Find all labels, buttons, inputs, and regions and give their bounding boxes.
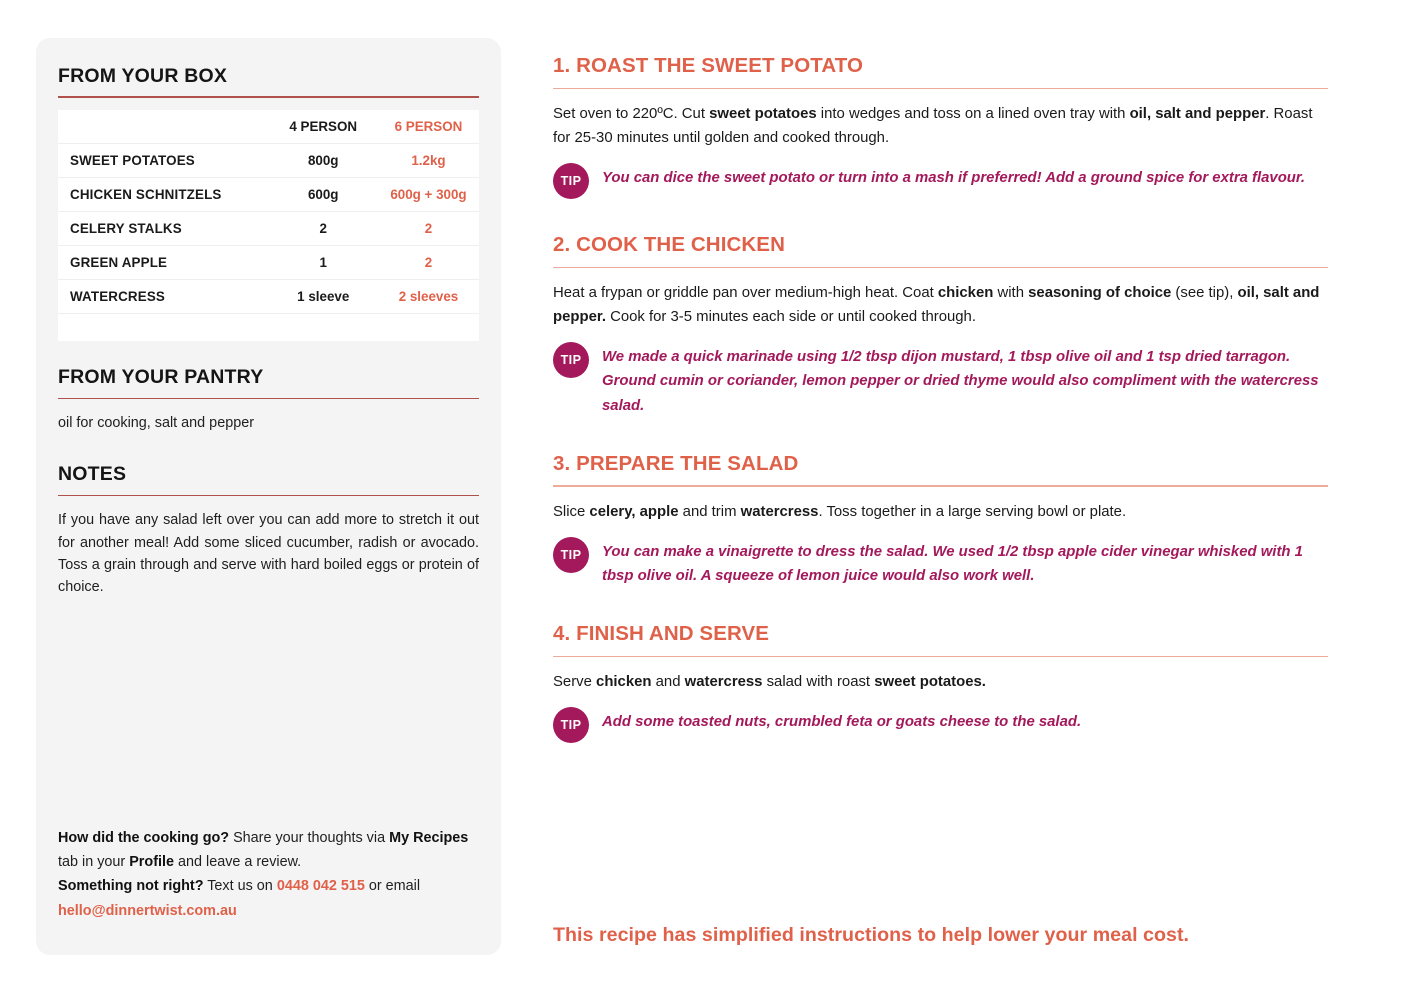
step-2-tip-text: We made a quick marinade using 1/2 tbsp … [602, 345, 1328, 417]
footer-issue-label: Something not right? [58, 878, 203, 894]
step-3-body: Slice celery, apple and trim watercress.… [553, 500, 1328, 524]
footer-prompt-label: How did the cooking go? [58, 830, 229, 846]
tip-badge-icon: TIP [553, 537, 589, 573]
text-fragment: Cook for 3-5 minutes each side or until … [606, 309, 976, 325]
ingredient-emphasis: watercress [741, 504, 819, 520]
notes-text: If you have any salad left over you can … [58, 509, 479, 598]
pantry-text: oil for cooking, salt and pepper [58, 412, 479, 434]
ingredient-name: CHICKEN SCHNITZELS [58, 177, 269, 211]
footer-text: Share your thoughts via [229, 830, 389, 846]
support-phone-number[interactable]: 0448 042 515 [277, 878, 365, 894]
step-4-body: Serve chicken and watercress salad with … [553, 670, 1328, 694]
ingredient-emphasis: sweet potatoes. [874, 674, 986, 690]
tip-badge-icon: TIP [553, 163, 589, 199]
from-your-box-divider [58, 96, 479, 97]
tip-badge-icon: TIP [553, 342, 589, 378]
ingredient-qty-6: 1.2kg [378, 143, 479, 177]
spacer-cell [269, 313, 378, 341]
instructions-column: 1. ROAST THE SWEET POTATO Set oven to 22… [553, 54, 1328, 743]
header-6-person: 6 PERSON [378, 110, 479, 144]
step-4-tip-text: Add some toasted nuts, crumbled feta or … [602, 710, 1081, 734]
step-3-tip: TIP You can make a vinaigrette to dress … [553, 540, 1328, 588]
footer-line2: Something not right? Text us on 0448 042… [58, 878, 420, 918]
footer-profile-label: Profile [129, 854, 174, 870]
step-3: 3. PREPARE THE SALAD Slice celery, apple… [553, 452, 1328, 588]
ingredient-emphasis: watercress [685, 674, 763, 690]
step-1-divider [553, 88, 1328, 89]
ingredient-qty-6: 2 [378, 245, 479, 279]
step-4-tip: TIP Add some toasted nuts, crumbled feta… [553, 710, 1328, 743]
spacer-cell [58, 313, 269, 341]
spacer-cell [378, 313, 479, 341]
step-3-title: 3. PREPARE THE SALAD [553, 452, 1328, 476]
ingredient-emphasis: celery, apple [589, 504, 678, 520]
step-2-tip: TIP We made a quick marinade using 1/2 t… [553, 345, 1328, 417]
ingredient-qty-6: 600g + 300g [378, 177, 479, 211]
text-fragment: and [652, 674, 685, 690]
header-ingredient [58, 110, 269, 144]
step-gap [553, 199, 1328, 233]
ingredient-qty-4: 2 [269, 211, 378, 245]
text-fragment: Heat a frypan or griddle pan over medium… [553, 285, 938, 301]
text-fragment: salad with roast [762, 674, 874, 690]
ingredient-qty-4: 1 sleeve [269, 279, 378, 313]
ingredient-emphasis: oil, salt and pepper [1130, 106, 1266, 122]
text-fragment: Set oven to 220ºC. Cut [553, 106, 709, 122]
ingredient-qty-4: 600g [269, 177, 378, 211]
notes-divider [58, 495, 479, 496]
table-row: CELERY STALKS 2 2 [58, 211, 479, 245]
step-2-title: 2. COOK THE CHICKEN [553, 233, 1328, 257]
step-1-title: 1. ROAST THE SWEET POTATO [553, 54, 1328, 78]
text-fragment: Serve [553, 674, 596, 690]
table-row: WATERCRESS 1 sleeve 2 sleeves [58, 279, 479, 313]
from-your-pantry-divider [58, 398, 479, 399]
ingredient-name: SWEET POTATOES [58, 143, 269, 177]
footer-my-recipes-label: My Recipes [389, 830, 468, 846]
support-email-address[interactable]: hello@dinnertwist.com.au [58, 903, 237, 919]
step-3-tip-text: You can make a vinaigrette to dress the … [602, 540, 1328, 588]
step-4: 4. FINISH AND SERVE Serve chicken and wa… [553, 622, 1328, 743]
footer-line1: How did the cooking go? Share your thoug… [58, 830, 468, 870]
feedback-footer: How did the cooking go? Share your thoug… [58, 826, 479, 923]
footer-text: Text us on [203, 878, 276, 894]
step-1-tip: TIP You can dice the sweet potato or tur… [553, 166, 1328, 199]
footer-text: or email [365, 878, 420, 894]
table-row: CHICKEN SCHNITZELS 600g 600g + 300g [58, 177, 479, 211]
table-row: SWEET POTATOES 800g 1.2kg [58, 143, 479, 177]
ingredient-emphasis: seasoning of choice [1028, 285, 1171, 301]
footer-text: tab in your [58, 854, 129, 870]
ingredient-qty-4: 800g [269, 143, 378, 177]
table-row: GREEN APPLE 1 2 [58, 245, 479, 279]
recipe-page: FROM YOUR BOX 4 PERSON 6 PERSON SWEET PO… [0, 0, 1403, 992]
ingredient-qty-4: 1 [269, 245, 378, 279]
step-1: 1. ROAST THE SWEET POTATO Set oven to 22… [553, 54, 1328, 199]
footer-text: and leave a review. [174, 854, 301, 870]
step-gap [553, 418, 1328, 452]
ingredient-name: GREEN APPLE [58, 245, 269, 279]
ingredient-qty-6: 2 sleeves [378, 279, 479, 313]
table-spacer-row [58, 313, 479, 341]
ingredients-panel: FROM YOUR BOX 4 PERSON 6 PERSON SWEET PO… [36, 38, 501, 955]
step-1-tip-text: You can dice the sweet potato or turn in… [602, 166, 1305, 190]
step-gap [553, 588, 1328, 622]
text-fragment: . Toss together in a large serving bowl … [818, 504, 1126, 520]
from-your-pantry-heading: FROM YOUR PANTRY [58, 367, 479, 388]
step-1-body: Set oven to 220ºC. Cut sweet potatoes in… [553, 102, 1328, 150]
step-3-divider [553, 485, 1328, 486]
text-fragment: (see tip), [1171, 285, 1237, 301]
step-2-divider [553, 267, 1328, 268]
ingredient-name: WATERCRESS [58, 279, 269, 313]
header-4-person: 4 PERSON [269, 110, 378, 144]
ingredient-name: CELERY STALKS [58, 211, 269, 245]
step-2-body: Heat a frypan or griddle pan over medium… [553, 281, 1328, 329]
text-fragment: with [993, 285, 1028, 301]
step-4-divider [553, 656, 1328, 657]
step-2: 2. COOK THE CHICKEN Heat a frypan or gri… [553, 233, 1328, 418]
ingredients-table: 4 PERSON 6 PERSON SWEET POTATOES 800g 1.… [58, 110, 479, 342]
text-fragment: and trim [679, 504, 741, 520]
cost-saving-note: This recipe has simplified instructions … [553, 924, 1353, 947]
ingredient-emphasis: chicken [596, 674, 651, 690]
ingredient-qty-6: 2 [378, 211, 479, 245]
from-your-box-heading: FROM YOUR BOX [58, 66, 479, 87]
step-4-title: 4. FINISH AND SERVE [553, 622, 1328, 646]
table-header-row: 4 PERSON 6 PERSON [58, 110, 479, 144]
notes-heading: NOTES [58, 464, 479, 485]
ingredient-emphasis: sweet potatoes [709, 106, 817, 122]
text-fragment: into wedges and toss on a lined oven tra… [817, 106, 1130, 122]
ingredient-emphasis: chicken [938, 285, 993, 301]
tip-badge-icon: TIP [553, 707, 589, 743]
text-fragment: Slice [553, 504, 589, 520]
